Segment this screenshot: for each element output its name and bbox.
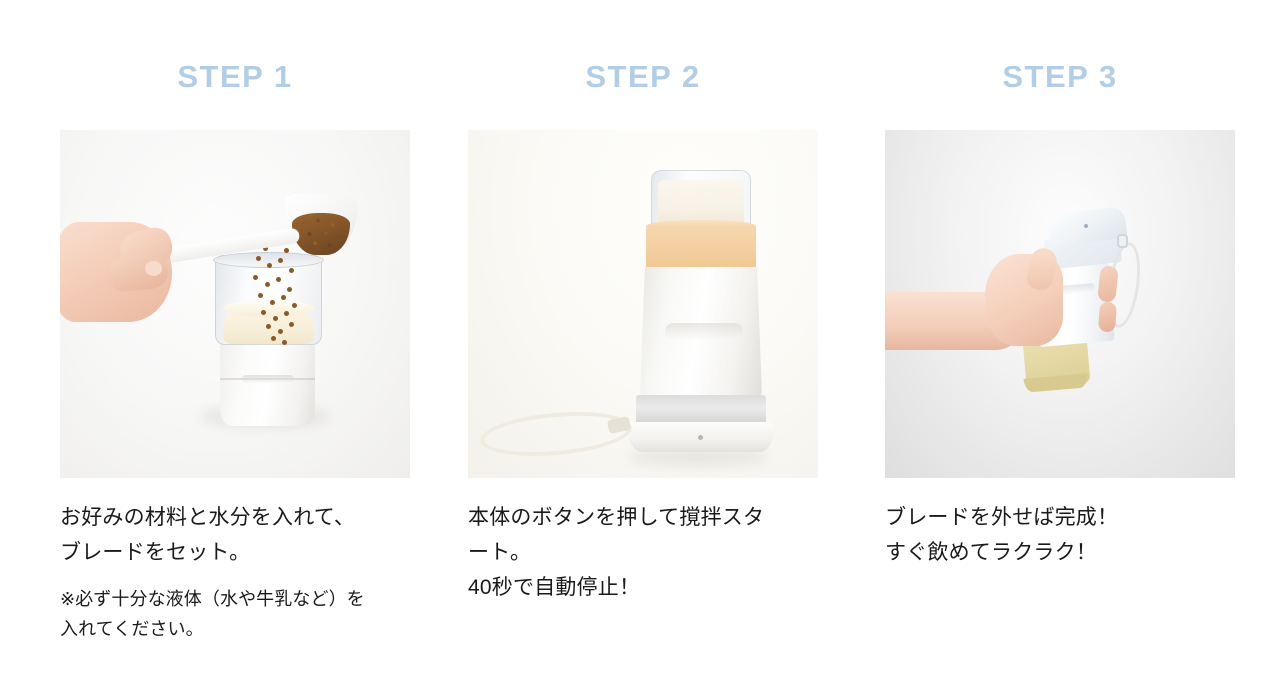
strap-clip: [1117, 234, 1128, 248]
step-2-photo: [468, 130, 818, 478]
fingertip-lower: [1098, 301, 1117, 332]
step-2-heading: STEP 2: [468, 57, 818, 97]
power-indicator-icon: [698, 435, 703, 440]
tumbler-logo-emboss: [665, 323, 743, 339]
note-line: ※必ず十分な液体（水や牛乳など）を: [60, 584, 420, 614]
note-line: 入れてください。: [60, 614, 420, 644]
step-column-2: STEP 2 本体のボタンを押して撹拌スタ ート。 40秒で自動停止！: [408, 0, 816, 696]
caption-line: すぐ飲めてラクラク！: [885, 535, 1235, 570]
caption-line: 40秒で自動停止！: [468, 570, 818, 605]
caption-line: ブレードをセット。: [60, 535, 410, 570]
step-3-heading: STEP 3: [885, 57, 1235, 97]
steps-row: STEP 1: [0, 0, 1287, 696]
caption-line: 本体のボタンを押して撹拌スタ: [468, 500, 818, 535]
caption-line: ブレードを外せば完成！: [885, 500, 1235, 535]
step-2-caption: 本体のボタンを押して撹拌スタ ート。 40秒で自動停止！: [468, 500, 818, 605]
step-1-note: ※必ず十分な液体（水や牛乳など）を 入れてください。: [60, 584, 420, 644]
steps-page: STEP 1: [0, 0, 1287, 696]
fingernail: [145, 261, 162, 276]
step-1-caption: お好みの材料と水分を入れて、 ブレードをセット。: [60, 500, 410, 570]
caption-line: お好みの材料と水分を入れて、: [60, 500, 410, 535]
carry-strap: [478, 406, 633, 461]
lid-vent-icon: [1084, 224, 1088, 228]
caption-line: ート。: [468, 535, 818, 570]
step-1-heading: STEP 1: [60, 57, 410, 97]
step-1-photo: [60, 130, 410, 478]
step-column-1: STEP 1: [0, 0, 408, 696]
step-column-3: STEP 3 ブレードを外せば完成！ すぐ飲めてラクラク！: [816, 0, 1224, 696]
step-3-caption: ブレードを外せば完成！ すぐ飲めてラクラク！: [885, 500, 1235, 570]
step-3-photo: [885, 130, 1235, 478]
blended-liquid: [646, 225, 756, 269]
